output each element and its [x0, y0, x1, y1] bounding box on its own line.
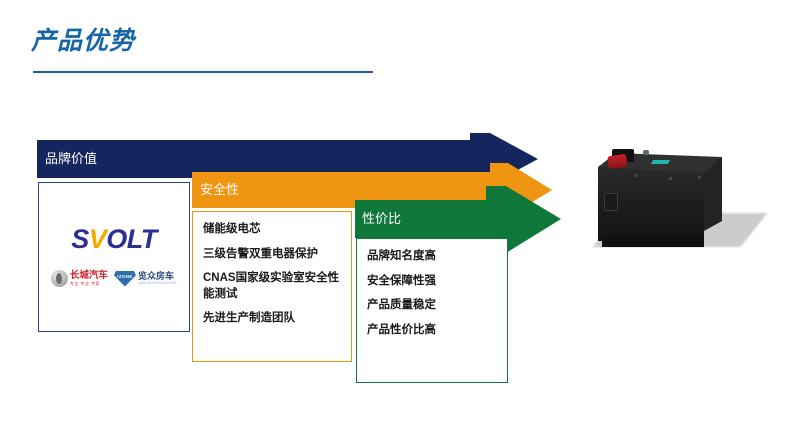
partner-logos: 长城汽车 专注 专业 专家 IZONE 览众房车 LANZHONGFANGCHE [38, 270, 190, 287]
great-wall-tagline: 专注 专业 专家 [70, 282, 108, 286]
svolt-logo-part-olt: OLT [106, 224, 156, 254]
great-wall-emblem-icon [51, 270, 68, 287]
safety-item-list: 储能级电芯 三级告警双重电器保护 CNAS国家级实验室安全性能测试 先进生产制造… [193, 212, 351, 327]
battery-pack-photo [594, 141, 774, 271]
partner-logo-great-wall: 长城汽车 专注 专业 专家 [51, 270, 108, 287]
list-item: CNAS国家级实验室安全性能测试 [203, 271, 351, 302]
battery-red-connector-icon [607, 154, 628, 170]
panel-cost-performance: 品牌知名度高 安全保障性强 产品质量稳定 产品性价比高 [356, 238, 508, 383]
battery-screw [698, 176, 701, 179]
brand-logo-group: SVOLT 长城汽车 专注 专业 专家 IZONE 览众房车 LANZHONGF… [38, 182, 190, 332]
svolt-logo-part-s: S [71, 224, 89, 254]
battery-cyan-label [651, 160, 670, 164]
izone-mark: IZONE [117, 274, 132, 279]
arrow-label-brand: 品牌价值 [45, 152, 97, 165]
page-title: 产品优势 [31, 29, 135, 54]
list-item: 安全保障性强 [367, 274, 507, 290]
arrow-label-value: 性价比 [362, 212, 401, 225]
slide-canvas: 产品优势 品牌价值 安全性 性价比 SVOLT 长城汽车 专注 专业 专家 IZ… [0, 0, 800, 436]
battery-vent-panel [604, 193, 618, 211]
izone-name: 览众房车 [138, 272, 177, 281]
izone-shield-icon: IZONE [114, 271, 136, 287]
partner-logo-izone: IZONE 览众房车 LANZHONGFANGCHE [114, 271, 177, 287]
list-item: 产品性价比高 [367, 323, 507, 339]
izone-wordmark: 览众房车 LANZHONGFANGCHE [138, 272, 177, 286]
title-underline-rule [33, 71, 373, 73]
value-item-list: 品牌知名度高 安全保障性强 产品质量稳定 产品性价比高 [357, 239, 507, 338]
battery-screw [669, 177, 672, 180]
battery-terminal-knob [643, 150, 649, 155]
great-wall-name: 长城汽车 [70, 271, 108, 281]
battery-screw [634, 174, 637, 177]
great-wall-wordmark: 长城汽车 专注 专业 专家 [70, 271, 108, 286]
panel-safety: 储能级电芯 三级告警双重电器保护 CNAS国家级实验室安全性能测试 先进生产制造… [192, 211, 352, 362]
list-item: 产品质量稳定 [367, 298, 507, 314]
list-item: 储能级电芯 [203, 222, 351, 238]
list-item: 三级告警双重电器保护 [203, 247, 351, 263]
svolt-logo-part-v: V [89, 224, 107, 254]
list-item: 先进生产制造团队 [203, 311, 351, 327]
svolt-logo: SVOLT [38, 226, 190, 253]
izone-tagline: LANZHONGFANGCHE [138, 282, 177, 285]
arrow-label-safety: 安全性 [200, 183, 239, 196]
list-item: 品牌知名度高 [367, 249, 507, 265]
battery-base-plinth [602, 237, 704, 247]
